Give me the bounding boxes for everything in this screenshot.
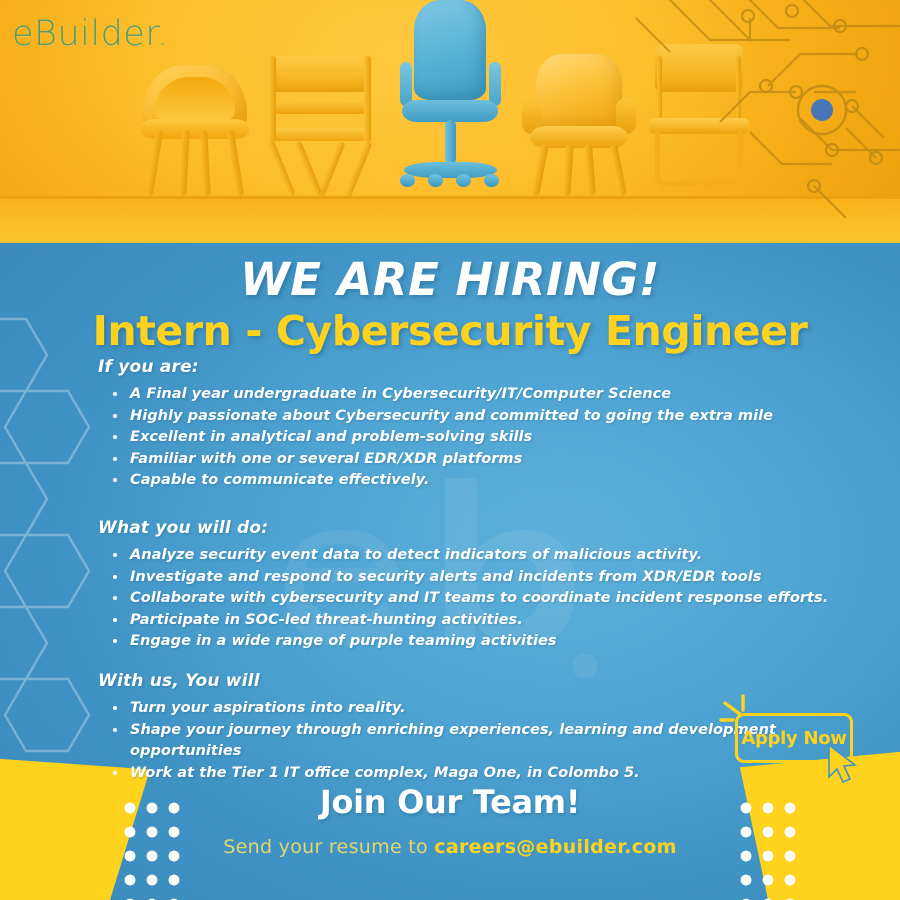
section-what-you-will-do: What you will do: Analyze security event… [98, 518, 888, 652]
section-if-you-are: If you are: A Final year undergraduate i… [98, 357, 888, 491]
section-title: If you are: [98, 357, 888, 377]
list-item: Engage in a wide range of purple teaming… [98, 630, 888, 652]
list-item: Familiar with one or several EDR/XDR pla… [98, 448, 888, 470]
apply-now-button[interactable]: Apply Now [713, 691, 878, 791]
list-item: Analyze security event data to detect in… [98, 544, 888, 566]
list-item: Excellent in analytical and problem-solv… [98, 426, 888, 448]
brand-logo-dot: . [157, 14, 169, 54]
brand-logo-text: eBuilder [12, 14, 157, 54]
responsibility-list: Analyze security event data to detect in… [98, 544, 888, 652]
mouse-cursor-icon [825, 743, 863, 785]
poster-footer: Join Our Team! Send your resume to caree… [0, 783, 900, 858]
circuit-node-dot [811, 99, 833, 121]
careers-email[interactable]: careers@ebuilder.com [434, 836, 676, 858]
chair-director-chair [265, 46, 375, 196]
chair-office-chair-blue [388, 0, 513, 196]
list-item: Collaborate with cybersecurity and IT te… [98, 587, 888, 609]
chair-tub-armchair [135, 51, 255, 196]
poster-body: WE ARE HIRING! Intern - Cybersecurity En… [0, 243, 900, 900]
section-title: With us, You will [98, 671, 888, 691]
section-title: What you will do: [98, 518, 888, 538]
list-item: Investigate and respond to security aler… [98, 566, 888, 588]
headline-job-title: Intern - Cybersecurity Engineer [0, 307, 900, 355]
hexagon-pattern-decor [0, 313, 114, 783]
resume-prefix: Send your resume to [223, 836, 434, 858]
list-item: A Final year undergraduate in Cybersecur… [98, 383, 888, 405]
brand-logo: eBuilder. [12, 14, 169, 54]
join-our-team-heading: Join Our Team! [0, 783, 900, 821]
poster-header: eBuilder. [0, 0, 900, 243]
hiring-poster: eBuilder. [0, 0, 900, 900]
list-item: Capable to communicate effectively. [98, 469, 888, 491]
list-item: Highly passionate about Cybersecurity an… [98, 405, 888, 427]
requirement-list: A Final year undergraduate in Cybersecur… [98, 383, 888, 491]
circuit-board-icon [600, 0, 900, 230]
list-item: Participate in SOC-led threat-hunting ac… [98, 609, 888, 631]
headline-primary: WE ARE HIRING! [0, 253, 900, 306]
resume-line: Send your resume to careers@ebuilder.com [0, 836, 900, 858]
